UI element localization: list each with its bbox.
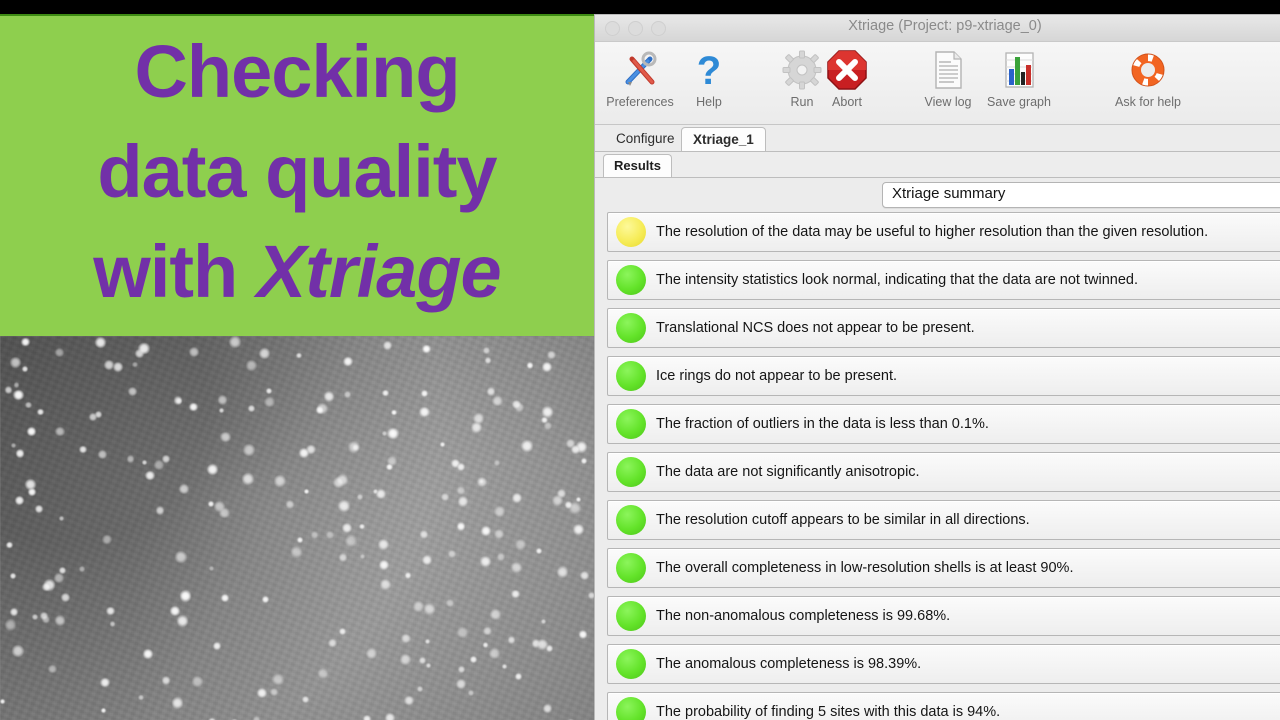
diffraction-spot	[511, 590, 520, 599]
diffraction-spot	[170, 606, 180, 616]
status-badge-green	[616, 313, 646, 343]
diffraction-spot	[12, 645, 24, 657]
diffraction-spot	[207, 464, 218, 475]
diffraction-spot	[494, 529, 504, 539]
diffraction-spot	[89, 413, 97, 421]
results-list[interactable]: The resolution of the data may be useful…	[595, 212, 1280, 715]
toolbar-label-help: Help	[670, 95, 748, 109]
slide-title-card: Checking data quality with Xtriage	[0, 14, 594, 336]
status-badge-green	[616, 457, 646, 487]
xtriage-application-window: Xtriage (Project: p9-xtriage_0) Preferen…	[594, 14, 1280, 720]
diffraction-image	[0, 336, 594, 720]
diffraction-spot	[13, 390, 24, 401]
diffraction-spot	[481, 526, 491, 536]
diffraction-spot	[302, 696, 309, 703]
diffraction-spot	[471, 422, 482, 433]
diffraction-spot	[142, 460, 147, 465]
diffraction-spot	[59, 516, 64, 521]
diffraction-spot	[425, 639, 430, 644]
diffraction-spot	[262, 596, 269, 603]
diffraction-spot	[480, 556, 491, 567]
diffraction-spot	[177, 615, 189, 627]
diffraction-spot	[95, 337, 106, 348]
toolbar-label-save-graph: Save graph	[980, 95, 1058, 109]
toolbar-button-view-log[interactable]: View log	[909, 46, 987, 109]
diffraction-spot	[457, 486, 466, 495]
diffraction-spot	[417, 686, 423, 692]
diffraction-spot	[345, 535, 357, 547]
result-row[interactable]: The resolution cutoff appears to be simi…	[607, 500, 1280, 540]
status-badge-green	[616, 505, 646, 535]
toolbar: Preferences ? Help	[595, 42, 1280, 125]
diffraction-spot	[404, 696, 413, 705]
toolbar-label-preferences: Preferences	[601, 95, 679, 109]
tab-configure[interactable]: Configure	[605, 127, 686, 150]
question-mark-icon: ?	[670, 46, 748, 94]
toolbar-label-abort: Abort	[808, 95, 886, 109]
result-row[interactable]: The non-anomalous completeness is 99.68%…	[607, 596, 1280, 636]
diffraction-spot	[55, 348, 64, 357]
result-row[interactable]: The probability of finding 5 sites with …	[607, 692, 1280, 720]
status-badge-green	[616, 361, 646, 391]
result-text: The data are not significantly anisotrop…	[656, 453, 920, 491]
result-row[interactable]: The anomalous completeness is 98.39%.	[607, 644, 1280, 684]
tab-xtriage-1[interactable]: Xtriage_1	[681, 127, 766, 151]
result-text: The anomalous completeness is 98.39%.	[656, 645, 921, 683]
diffraction-spot	[557, 566, 569, 578]
diffraction-spot	[457, 522, 466, 531]
diffraction-spot	[172, 697, 184, 709]
title-line-3-prefix: with	[93, 230, 257, 313]
life-ring-icon	[1109, 46, 1187, 94]
diffraction-spot	[6, 542, 12, 548]
toolbar-button-help[interactable]: ? Help	[670, 46, 748, 109]
result-row[interactable]: The intensity statistics look normal, in…	[607, 260, 1280, 300]
toolbar-button-preferences[interactable]: Preferences	[601, 46, 679, 109]
toolbar-button-save-graph[interactable]: Save graph	[980, 46, 1058, 109]
diffraction-spot	[259, 348, 270, 359]
diffraction-spot	[291, 546, 303, 558]
result-row[interactable]: The fraction of outliers in the data is …	[607, 404, 1280, 444]
bar-chart-icon	[980, 46, 1058, 94]
diffraction-spot	[40, 612, 48, 620]
tools-icon	[601, 46, 679, 94]
diffraction-spot	[521, 440, 533, 452]
diffraction-spot	[220, 432, 231, 443]
svg-text:?: ?	[697, 49, 721, 91]
presentation-slide: Checking data quality with Xtriage	[0, 14, 594, 720]
status-badge-green	[616, 601, 646, 631]
result-row[interactable]: Translational NCS does not appear to be …	[607, 308, 1280, 348]
toolbar-button-abort[interactable]: Abort	[808, 46, 886, 109]
toolbar-button-ask-for-help[interactable]: Ask for help	[1109, 46, 1187, 109]
diffraction-spot	[489, 648, 500, 659]
diffraction-spot	[359, 524, 365, 530]
diffraction-spot	[576, 497, 581, 502]
diffraction-spot	[264, 397, 274, 407]
diffraction-spot	[25, 402, 32, 409]
result-text: Translational NCS does not appear to be …	[656, 309, 975, 347]
diffraction-spot	[458, 496, 468, 506]
status-badge-green	[616, 265, 646, 295]
diffraction-spot	[338, 500, 350, 512]
diffraction-spot	[132, 362, 138, 368]
diffraction-spot	[138, 695, 143, 700]
diffraction-spot	[299, 448, 309, 458]
diffraction-spot	[387, 428, 399, 440]
title-line-3: with Xtriage	[0, 222, 594, 322]
diffraction-spot	[219, 408, 224, 413]
diffraction-spot	[274, 475, 286, 487]
diffraction-spot	[382, 390, 389, 397]
diffraction-spot	[441, 493, 449, 501]
diffraction-spot	[542, 406, 554, 418]
summary-dropdown[interactable]: Xtriage summary	[882, 182, 1280, 208]
diffraction-spot	[318, 668, 329, 679]
diffraction-spot	[243, 444, 255, 456]
diffraction-spot	[565, 501, 573, 509]
status-badge-green	[616, 409, 646, 439]
result-text: The resolution cutoff appears to be simi…	[656, 501, 1030, 539]
diffraction-spot	[162, 676, 171, 685]
diffraction-spot	[339, 553, 347, 561]
status-badge-yellow	[616, 217, 646, 247]
result-text: The fraction of outliers in the data is …	[656, 405, 989, 443]
diffraction-spot	[382, 431, 387, 436]
document-lines-icon	[909, 46, 987, 94]
result-row[interactable]: The resolution of the data may be useful…	[607, 212, 1280, 252]
diffraction-spot	[27, 427, 36, 436]
result-text: The intensity statistics look normal, in…	[656, 261, 1138, 299]
diffraction-spot	[552, 495, 563, 506]
diffraction-spot	[400, 654, 411, 665]
diffraction-spot	[297, 537, 303, 543]
diffraction-spot	[229, 336, 241, 348]
title-line-1: Checking	[0, 22, 594, 122]
diffraction-spot	[156, 506, 165, 515]
diffraction-vignette	[0, 336, 594, 720]
diffraction-spot	[127, 455, 135, 463]
diffraction-spot	[272, 674, 283, 685]
diffraction-spot	[457, 463, 465, 471]
diffraction-spot	[145, 471, 155, 481]
stop-x-icon	[808, 46, 886, 94]
diffraction-spot	[424, 603, 436, 615]
sub-tab-bar: Results	[595, 152, 1280, 178]
diffraction-spot	[497, 553, 505, 561]
diffraction-spot	[457, 627, 468, 638]
diffraction-spot	[494, 460, 500, 466]
diffraction-spot	[110, 621, 116, 627]
screenshot-root: Checking data quality with Xtriage Xtria…	[0, 0, 1280, 720]
status-badge-green	[616, 697, 646, 720]
diffraction-spot	[401, 634, 411, 644]
tab-bar: Configure Xtriage_1	[595, 125, 1280, 152]
diffraction-spot	[324, 391, 335, 402]
summary-selector-row: Xtriage summary	[595, 178, 1280, 212]
diffraction-spot	[10, 573, 16, 579]
tab-results[interactable]: Results	[603, 154, 672, 177]
toolbar-label-ask-for-help: Ask for help	[1109, 95, 1187, 109]
window-title: Xtriage (Project: p9-xtriage_0)	[595, 18, 1280, 34]
diffraction-spot	[515, 539, 526, 550]
diffraction-spot	[37, 409, 43, 415]
result-row[interactable]: Ice rings do not appear to be present.	[607, 356, 1280, 396]
result-text: The non-anomalous completeness is 99.68%…	[656, 597, 950, 635]
window-titlebar: Xtriage (Project: p9-xtriage_0)	[595, 15, 1280, 42]
result-text: The resolution of the data may be useful…	[656, 213, 1208, 251]
diffraction-spot	[138, 343, 150, 355]
result-text: Ice rings do not appear to be present.	[656, 357, 897, 395]
diffraction-spot	[421, 390, 428, 397]
diffraction-spot	[541, 619, 546, 624]
result-text: The overall completeness in low-resoluti…	[656, 549, 1073, 587]
title-line-3-italic: Xtriage	[257, 230, 501, 313]
diffraction-spot	[385, 713, 395, 720]
diffraction-spot	[494, 506, 505, 517]
diffraction-spot	[59, 567, 66, 574]
diffraction-spot	[547, 351, 556, 360]
diffraction-spot	[42, 583, 50, 591]
diffraction-spot	[174, 396, 183, 405]
diffraction-spot	[376, 489, 386, 499]
status-badge-green	[616, 553, 646, 583]
diffraction-spot	[419, 407, 429, 417]
summary-dropdown-value: Xtriage summary	[883, 183, 1280, 202]
diffraction-spot	[79, 446, 87, 454]
page-title: Checking data quality with Xtriage	[0, 22, 594, 322]
diffraction-spot	[573, 524, 584, 535]
diffraction-spot	[339, 628, 346, 635]
diffraction-spot	[579, 630, 588, 639]
diffraction-spot	[511, 562, 522, 573]
diffraction-spot	[492, 396, 502, 406]
diffraction-spot	[218, 395, 228, 405]
diffraction-spot	[22, 366, 28, 372]
diffraction-spot	[363, 715, 371, 720]
diffraction-spot	[175, 551, 187, 563]
diffraction-spot	[55, 427, 65, 437]
diffraction-spot	[426, 663, 431, 668]
diffraction-spot	[311, 531, 318, 538]
diffraction-spot	[242, 473, 254, 485]
diffraction-spot	[106, 607, 115, 616]
diffraction-spot	[515, 673, 522, 680]
diffraction-spot	[10, 608, 18, 616]
diffraction-spot	[143, 649, 153, 659]
status-badge-green	[616, 649, 646, 679]
diffraction-spot	[16, 449, 24, 457]
diffraction-spot	[456, 679, 466, 689]
diffraction-spot	[527, 362, 533, 368]
result-text: The probability of finding 5 sites with …	[656, 693, 1000, 720]
diffraction-spot	[14, 382, 19, 387]
diffraction-spot	[79, 566, 85, 572]
diffraction-spot	[248, 405, 255, 412]
diffraction-spot	[5, 619, 17, 631]
diffraction-spot	[352, 444, 359, 451]
result-row[interactable]: The overall completeness in low-resoluti…	[607, 548, 1280, 588]
diffraction-spot	[192, 676, 203, 687]
diffraction-spot	[253, 716, 261, 720]
diffraction-spot	[266, 388, 272, 394]
toolbar-label-view-log: View log	[909, 95, 987, 109]
diffraction-spot	[391, 410, 396, 415]
diffraction-spot	[483, 347, 490, 354]
diffraction-spot	[571, 445, 580, 454]
title-line-2: data quality	[0, 122, 594, 222]
diffraction-spot	[316, 406, 324, 414]
result-row[interactable]: The data are not significantly anisotrop…	[607, 452, 1280, 492]
diffraction-spot	[55, 615, 66, 626]
diffraction-spot	[162, 455, 170, 463]
diffraction-spot	[512, 493, 522, 503]
diffraction-spot	[21, 338, 30, 347]
